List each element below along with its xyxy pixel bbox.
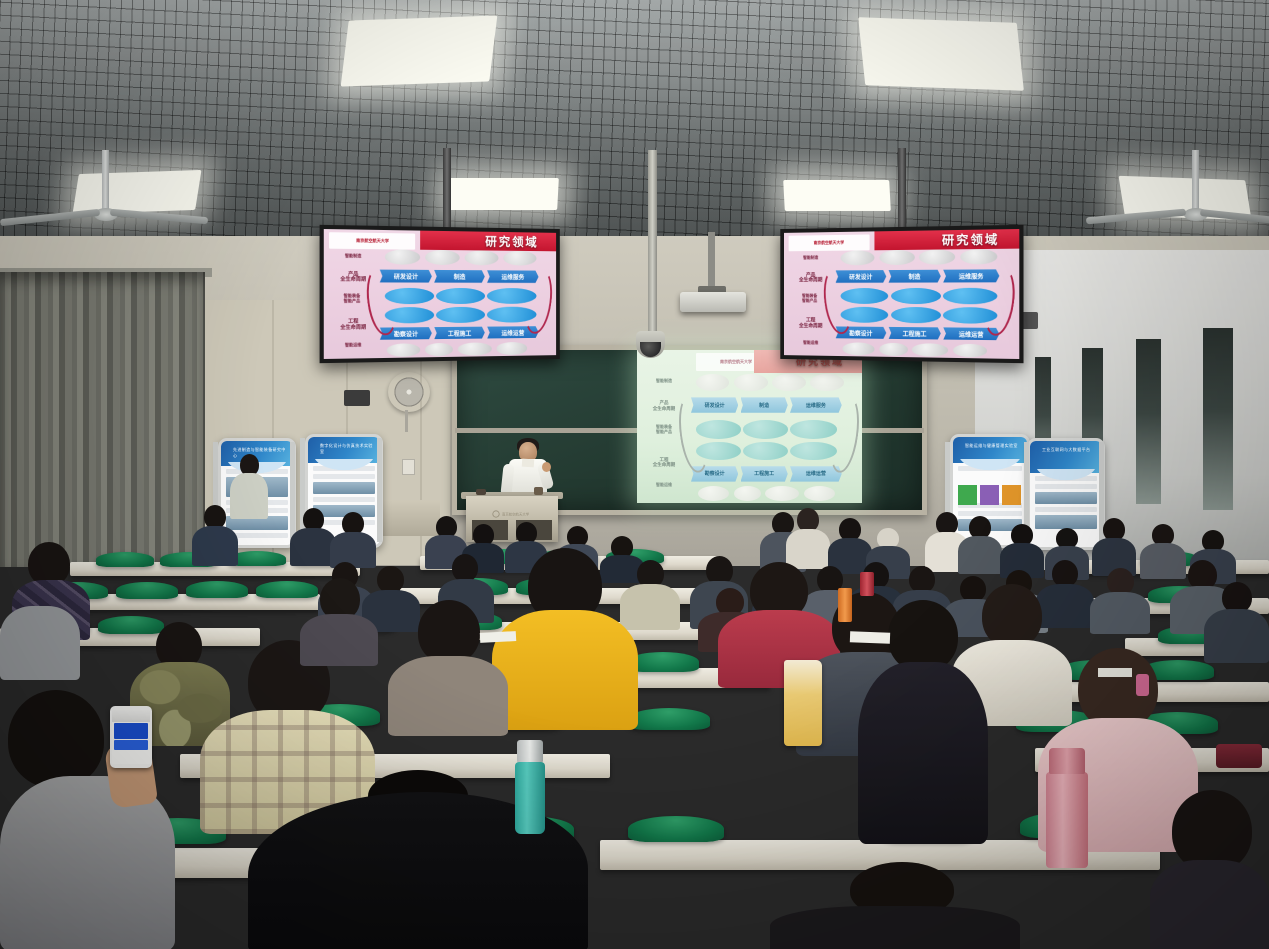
audience-member xyxy=(1092,518,1136,572)
wall-speaker xyxy=(344,390,370,406)
slide-stage: 工程施工 xyxy=(889,327,941,340)
ceiling-light-icon xyxy=(447,178,559,210)
ceiling-grid xyxy=(0,0,1269,250)
slide-row-label: 智能运维 xyxy=(646,483,682,488)
slide-logo: 南京航空航天大学 xyxy=(329,232,416,250)
projector-icon xyxy=(680,292,746,312)
slide-top-oval xyxy=(734,374,768,391)
presenter-collar xyxy=(522,459,535,468)
teal-water-bottle[interactable] xyxy=(515,762,545,834)
seat[interactable] xyxy=(96,552,154,567)
torso xyxy=(770,906,1020,949)
slide-bottom-oval xyxy=(804,486,836,501)
audience-member xyxy=(770,862,1020,949)
ceiling-light-icon xyxy=(341,15,498,86)
slide-top-oval xyxy=(879,250,914,265)
slide-bottom-oval xyxy=(734,486,761,501)
slide-bottom-oval xyxy=(698,486,730,501)
light-switch[interactable] xyxy=(402,459,415,475)
poster-title: 智能运维与健康管理实验室 xyxy=(953,437,1027,449)
slide-title: 研究领域 xyxy=(485,233,538,250)
slide-bottom-oval xyxy=(425,343,453,356)
slide-bubble xyxy=(743,420,788,438)
head xyxy=(909,566,935,593)
slide-top-oval xyxy=(960,249,997,265)
camera-pole xyxy=(648,150,657,335)
ceiling-light-icon xyxy=(783,180,891,211)
audience-member xyxy=(958,516,1002,570)
slide-logo: 南京航空航天大学 xyxy=(788,234,870,251)
head xyxy=(418,600,480,664)
audience-member xyxy=(388,600,508,730)
seat[interactable] xyxy=(628,816,724,842)
torso xyxy=(858,662,988,844)
slide-row-label: 智能运维 xyxy=(334,343,373,348)
poster-color-blocks xyxy=(958,485,1021,505)
curtain[interactable] xyxy=(0,272,205,567)
seat[interactable] xyxy=(628,708,710,730)
snack-bag[interactable] xyxy=(784,660,822,746)
presenter-hand xyxy=(542,462,551,472)
red-cup[interactable] xyxy=(860,572,874,596)
slide-top-oval xyxy=(810,374,844,391)
slide-row-label: 工程 全生命周期 xyxy=(331,320,375,332)
slide-top-oval xyxy=(464,250,498,265)
podium-object xyxy=(534,487,543,495)
slide-bottom-oval xyxy=(457,343,491,356)
pink-thermos[interactable] xyxy=(1046,772,1088,868)
audience-member xyxy=(786,508,830,566)
ceiling-fan-icon xyxy=(1148,150,1269,232)
torso xyxy=(1090,592,1150,634)
poster-title: 数字化设计与仿真技术实验室 xyxy=(308,437,380,455)
slide-stage: 制造 xyxy=(889,270,941,283)
podium-object xyxy=(476,489,486,495)
slide-bottom-oval xyxy=(953,344,987,357)
dome-camera-icon xyxy=(636,331,665,358)
torso xyxy=(958,536,1002,574)
slide-bubble xyxy=(891,288,941,305)
torso xyxy=(192,526,238,566)
paper-sheet[interactable] xyxy=(480,631,516,643)
slide-top-oval xyxy=(840,250,874,265)
slide-logo-text: 南京航空航天大学 xyxy=(720,359,752,365)
slide-bottom-oval xyxy=(842,342,874,355)
window xyxy=(1203,328,1233,510)
slide-top-oval xyxy=(385,249,421,265)
poster-title: 工业互联网与大数据平台 xyxy=(1030,441,1102,453)
slide-stage: 运维服务 xyxy=(790,397,842,412)
slide-top-oval xyxy=(503,251,536,266)
head xyxy=(452,554,478,582)
ceiling-fan-icon xyxy=(58,150,188,232)
wall-fan-icon xyxy=(388,372,430,412)
projector-mount xyxy=(708,232,715,294)
slide-top-oval xyxy=(772,374,806,391)
slide-bottom-oval xyxy=(879,343,907,356)
slide-stage: 工程施工 xyxy=(741,466,788,481)
thermos-cap[interactable] xyxy=(1049,748,1085,774)
slide-top-oval xyxy=(696,374,730,391)
slide-row-label: 智能制造 xyxy=(793,256,829,261)
hair-clip xyxy=(1136,674,1149,696)
slide-bubble xyxy=(437,306,485,323)
phone-screen xyxy=(112,710,150,764)
slide-bottom-oval xyxy=(765,486,799,501)
torso xyxy=(1204,609,1269,663)
window xyxy=(1136,339,1161,504)
audience-member xyxy=(192,505,238,561)
head xyxy=(377,566,404,593)
slide-row-label: 智能制造 xyxy=(334,254,373,259)
slide-row-label: 工程 全生命周期 xyxy=(646,457,682,467)
slide-top-oval xyxy=(919,249,955,265)
head xyxy=(1052,560,1078,587)
slide-row-label: 智能制造 xyxy=(646,379,682,384)
slide-row-label: 工程 全生命周期 xyxy=(791,318,831,330)
lecture-hall-photo: 南京航空航天大学 研究领域 智能制造 产品 全生命周期 智能装备 智能产品 工程… xyxy=(0,0,1269,949)
slide-stage: 制造 xyxy=(434,270,485,283)
paper-sheet[interactable] xyxy=(1098,668,1132,677)
orange-bottle[interactable] xyxy=(838,588,852,622)
slide-row-label: 产品 全生命周期 xyxy=(646,400,682,410)
audience-member xyxy=(330,512,376,564)
audience-member xyxy=(1150,790,1269,949)
head xyxy=(982,584,1042,648)
torso xyxy=(1150,860,1269,949)
seat[interactable] xyxy=(186,581,248,598)
slide-title: 研究领域 xyxy=(942,231,999,249)
slide-stage: 制造 xyxy=(741,397,788,412)
slide-bubble xyxy=(437,288,485,304)
audience-member xyxy=(300,578,378,660)
svg-text:南京航空航天大学: 南京航空航天大学 xyxy=(502,511,530,516)
ceiling-light-icon xyxy=(858,17,1024,91)
audience-member xyxy=(1090,568,1150,630)
slide-logo-text: 南京航空航天大学 xyxy=(356,237,389,244)
torso xyxy=(0,606,80,680)
paper-sheet[interactable] xyxy=(850,631,890,643)
podium-emblem: 南京航空航天大学 xyxy=(492,505,538,513)
slide-row-label: 智能运维 xyxy=(793,341,829,346)
projected-slide: 南京航空航天大学 研究领域 智能制造 产品 全生命周期 智能装备 智能产品 工程… xyxy=(637,350,862,503)
poster-stand xyxy=(377,438,382,542)
bottle-cap[interactable] xyxy=(517,740,543,762)
torso xyxy=(388,656,508,736)
slide-logo-text: 南京航空航天大学 xyxy=(814,239,844,245)
display-left: 南京航空航天大学 研究领域 智能制造 产品 全生命周期 智能装备 智能产品 工程… xyxy=(320,225,560,363)
slide-bottom-oval xyxy=(496,342,527,355)
phone-on-desk[interactable] xyxy=(1216,744,1262,768)
display-right: 南京航空航天大学 研究领域 智能制造 产品 全生命周期 智能装备 智能产品 工程… xyxy=(780,225,1023,363)
audience-member xyxy=(0,586,80,676)
slide-bubble xyxy=(891,307,941,324)
torso xyxy=(300,614,378,666)
slide-top-oval xyxy=(425,250,460,265)
seat[interactable] xyxy=(116,582,178,599)
slide-bubble xyxy=(743,442,788,460)
torso xyxy=(492,610,638,730)
slide-stage: 工程施工 xyxy=(434,326,485,339)
slide-bottom-oval xyxy=(387,343,420,356)
head xyxy=(1107,568,1134,595)
smartphone-icon[interactable] xyxy=(110,706,152,768)
head xyxy=(8,690,104,788)
slide-bottom-oval xyxy=(912,343,948,356)
audience-member xyxy=(1204,582,1269,660)
